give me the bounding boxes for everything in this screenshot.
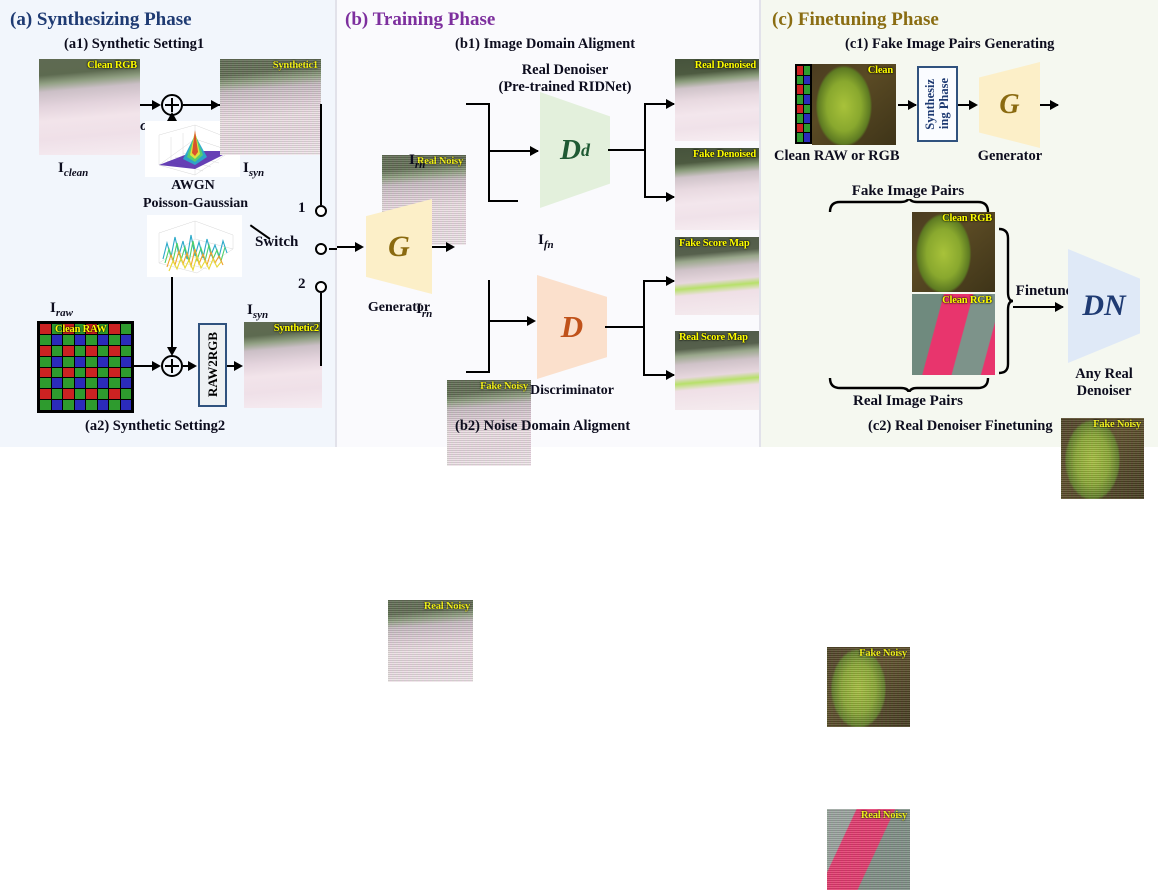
bayer-cell (121, 378, 132, 388)
synth-line-1: Synthesiz (924, 79, 937, 130)
label-fake-image-pairs: Fake Image Pairs (818, 183, 998, 200)
image-synthetic1: Synthetic1 (220, 59, 321, 155)
arrow-head (234, 361, 243, 371)
bayer-cell (121, 389, 132, 399)
switch-label-2: 2 (298, 276, 306, 293)
label-i-clean: Iclean (58, 160, 88, 180)
panel-b2-subtitle: (b2) Noise Domain Aligment (455, 418, 630, 435)
arrow-head (446, 242, 455, 252)
bayer-cell (75, 400, 86, 410)
panel-b-title: (b) Training Phase (345, 9, 495, 31)
arrow-head (1055, 302, 1064, 312)
arrow-head (666, 192, 675, 202)
bayer-cell (797, 76, 803, 85)
bayer-cell (804, 124, 810, 133)
image-caption: Clean (868, 65, 893, 76)
image-caption: Real Denoised (695, 60, 756, 71)
bayer-cell (86, 335, 97, 345)
image-clean-leaf: Clean (812, 64, 896, 145)
panel-divider-ab (335, 0, 337, 447)
label-i-syn-1: Isyn (243, 160, 264, 180)
bayer-cell (40, 400, 51, 410)
arrow-head (666, 276, 675, 286)
image-pair-real-noisy: Real Noisy (827, 809, 910, 890)
arrow-line (608, 149, 646, 151)
bayer-cell (75, 335, 86, 345)
panel-b1-subtitle: (b1) Image Domain Aligment (455, 36, 635, 53)
image-fake-score-map: Fake Score Map (675, 237, 759, 315)
figure-root: (a) Synthesizing Phase (a1) Synthetic Se… (0, 0, 1158, 447)
arrow-line (488, 200, 518, 202)
label-i-rn-bottom: Irn (416, 301, 432, 321)
switch-wire-out (329, 248, 337, 250)
switch-pole (315, 243, 327, 255)
brace-fake-pairs (827, 199, 991, 213)
label-i-syn-2: Isyn (247, 302, 268, 322)
image-caption: Clean RAW (55, 324, 1155, 335)
bayer-cell (63, 346, 74, 356)
label-generator-c: Generator (972, 148, 1048, 165)
brace-real-pairs (827, 377, 991, 392)
bayer-cell (52, 357, 63, 367)
bayer-cell (63, 368, 74, 378)
bayer-cell (109, 357, 120, 367)
bayer-cell (109, 335, 120, 345)
bayer-cell (40, 389, 51, 399)
bayer-cell (109, 400, 120, 410)
bayer-cell (40, 378, 51, 388)
panel-c1-subtitle: (c1) Fake Image Pairs Generating (845, 36, 1054, 53)
bayer-cell (75, 378, 86, 388)
arrow-head (211, 100, 220, 110)
bayer-cell (86, 389, 97, 399)
bayer-cell (98, 400, 109, 410)
bayer-cell (40, 324, 51, 334)
label-clean-raw-or-rgb: Clean RAW or RGB (774, 148, 900, 165)
switch-wire (320, 364, 322, 366)
bayer-cell (109, 378, 120, 388)
bayer-cell (109, 389, 120, 399)
bayer-cell (52, 368, 63, 378)
label-any-real-denoiser: Any Real Denoiser (1056, 366, 1152, 399)
panel-divider-bc (759, 0, 761, 447)
arrow-line (171, 277, 173, 351)
switch-wire (320, 104, 322, 106)
arrow-head (666, 99, 675, 109)
bayer-cell (804, 85, 810, 94)
panel-c-title: (c) Finetuning Phase (772, 9, 939, 31)
arrow-head (152, 100, 161, 110)
image-caption: Fake Denoised (693, 149, 756, 160)
synthesizing-phase-block: Synthesiz ing Phase (917, 66, 958, 142)
bayer-cell (63, 357, 74, 367)
bayer-cell (52, 400, 63, 410)
bayer-cell (804, 114, 810, 123)
image-caption: Fake Noisy (1093, 419, 1141, 430)
raw2rgb-block: RAW2RGB (198, 323, 227, 407)
bayer-cell (63, 335, 74, 345)
bayer-cell (109, 368, 120, 378)
image-real-denoised: Real Denoised (675, 59, 759, 141)
label-i-fn: Ifn (538, 232, 554, 252)
bayer-cell (797, 114, 803, 123)
bayer-cell (121, 346, 132, 356)
arrow-line (644, 103, 646, 198)
brace-group-all-pairs (996, 226, 1014, 376)
label-discriminator: Discriminator (520, 383, 624, 399)
bayer-cell (52, 335, 63, 345)
image-caption: Clean RGB (942, 295, 992, 306)
bayer-cell (63, 389, 74, 399)
switch-terminal-2 (315, 281, 327, 293)
switch-label: Switch (255, 234, 298, 251)
bayer-cell (797, 95, 803, 104)
image-caption: Clean RGB (87, 60, 137, 71)
bayer-cell (86, 357, 97, 367)
bayer-cell (86, 378, 97, 388)
bayer-cell (121, 335, 132, 345)
arrow-head (188, 361, 197, 371)
bayer-cell (98, 335, 109, 345)
bayer-cell (75, 389, 86, 399)
bayer-cell (797, 133, 803, 142)
label-poisson-gaussian: Poisson-Gaussian (88, 196, 303, 212)
image-caption: Fake Noisy (859, 648, 907, 659)
bayer-cell (98, 346, 109, 356)
bayer-cell (86, 346, 97, 356)
switch-terminal-1 (315, 205, 327, 217)
bayer-cell (63, 378, 74, 388)
bayer-cell (109, 346, 120, 356)
panel-a-title: (a) Synthesizing Phase (10, 9, 192, 31)
bayer-cell (804, 133, 810, 142)
arrow-head (167, 347, 177, 356)
plot-poisson-gaussian (147, 215, 242, 277)
image-caption: Synthetic1 (273, 60, 318, 71)
label-real-denoiser: Real Denoiser (Pre-trained RIDNet) (470, 62, 660, 95)
arrow-head (530, 146, 539, 156)
bayer-cell (86, 400, 97, 410)
bayer-cell (797, 105, 803, 114)
bayer-cell (121, 400, 132, 410)
arrow-head (167, 112, 177, 121)
switch-label-1: 1 (298, 200, 306, 217)
arrow-line (466, 371, 490, 373)
arrow-line (466, 103, 490, 105)
bayer-cell (40, 346, 51, 356)
bayer-cell (797, 85, 803, 94)
image-fake-noisy-leaf: Fake Noisy (1061, 418, 1144, 499)
bayer-cell (121, 357, 132, 367)
arrow-head (908, 100, 917, 110)
bayer-cell (52, 389, 63, 399)
bayer-cell (804, 105, 810, 114)
panel-c2-subtitle: (c2) Real Denoiser Finetuning (868, 418, 1053, 435)
bayer-cell (52, 346, 63, 356)
switch-wire-top (320, 104, 322, 205)
poisson-noise-surface-plot (147, 215, 242, 277)
bayer-cell (797, 124, 803, 133)
panel-a2-subtitle: (a2) Synthetic Setting2 (85, 418, 225, 435)
bayer-cell (804, 95, 810, 104)
bayer-cell (75, 368, 86, 378)
bayer-cell (75, 346, 86, 356)
bayer-cell (40, 357, 51, 367)
label-i-rn-top: Irn (409, 152, 425, 172)
bayer-cell (63, 400, 74, 410)
image-fake-denoised: Fake Denoised (675, 148, 759, 230)
image-clean-rgb: Clean RGB (39, 59, 140, 155)
bayer-cell (40, 368, 51, 378)
image-caption: Fake Score Map (679, 238, 750, 249)
label-awgn: AWGN (150, 178, 236, 194)
panel-a1-subtitle: (a1) Synthetic Setting1 (64, 36, 204, 53)
image-pair-clean-rgb-top: Clean RGB (912, 212, 995, 292)
arrow-head (666, 370, 675, 380)
bayer-cell (121, 368, 132, 378)
arrow-head (355, 242, 364, 252)
bayer-cell (86, 368, 97, 378)
bayer-cell (804, 76, 810, 85)
bayer-cell (98, 378, 109, 388)
image-caption: Real Noisy (861, 810, 907, 821)
bayer-cell (98, 389, 109, 399)
bayer-cell (75, 357, 86, 367)
bayer-cell (98, 368, 109, 378)
arrow-head (969, 100, 978, 110)
arrow-head (152, 361, 161, 371)
image-caption: Clean RGB (942, 213, 992, 224)
label-real-image-pairs: Real Image Pairs (818, 393, 998, 410)
bayer-cell (804, 66, 810, 75)
bayer-cell (52, 378, 63, 388)
bayer-cell (98, 357, 109, 367)
arrow-line (488, 103, 490, 202)
adder-node-a2 (161, 355, 183, 377)
arrow-head (1050, 100, 1059, 110)
bayer-strip (795, 64, 812, 144)
bayer-cell (797, 66, 803, 75)
image-real-score-map: Real Score Map (675, 331, 759, 410)
arrow-line (488, 280, 490, 322)
synth-line-2: ing Phase (938, 78, 951, 129)
image-pair-fake-noisy: Fake Noisy (827, 647, 910, 727)
bayer-cell (40, 335, 51, 345)
image-caption: Real Noisy (424, 601, 470, 612)
image-real-noisy-bottom: Real Noisy (388, 600, 473, 682)
label-i-raw: Iraw (50, 300, 73, 320)
